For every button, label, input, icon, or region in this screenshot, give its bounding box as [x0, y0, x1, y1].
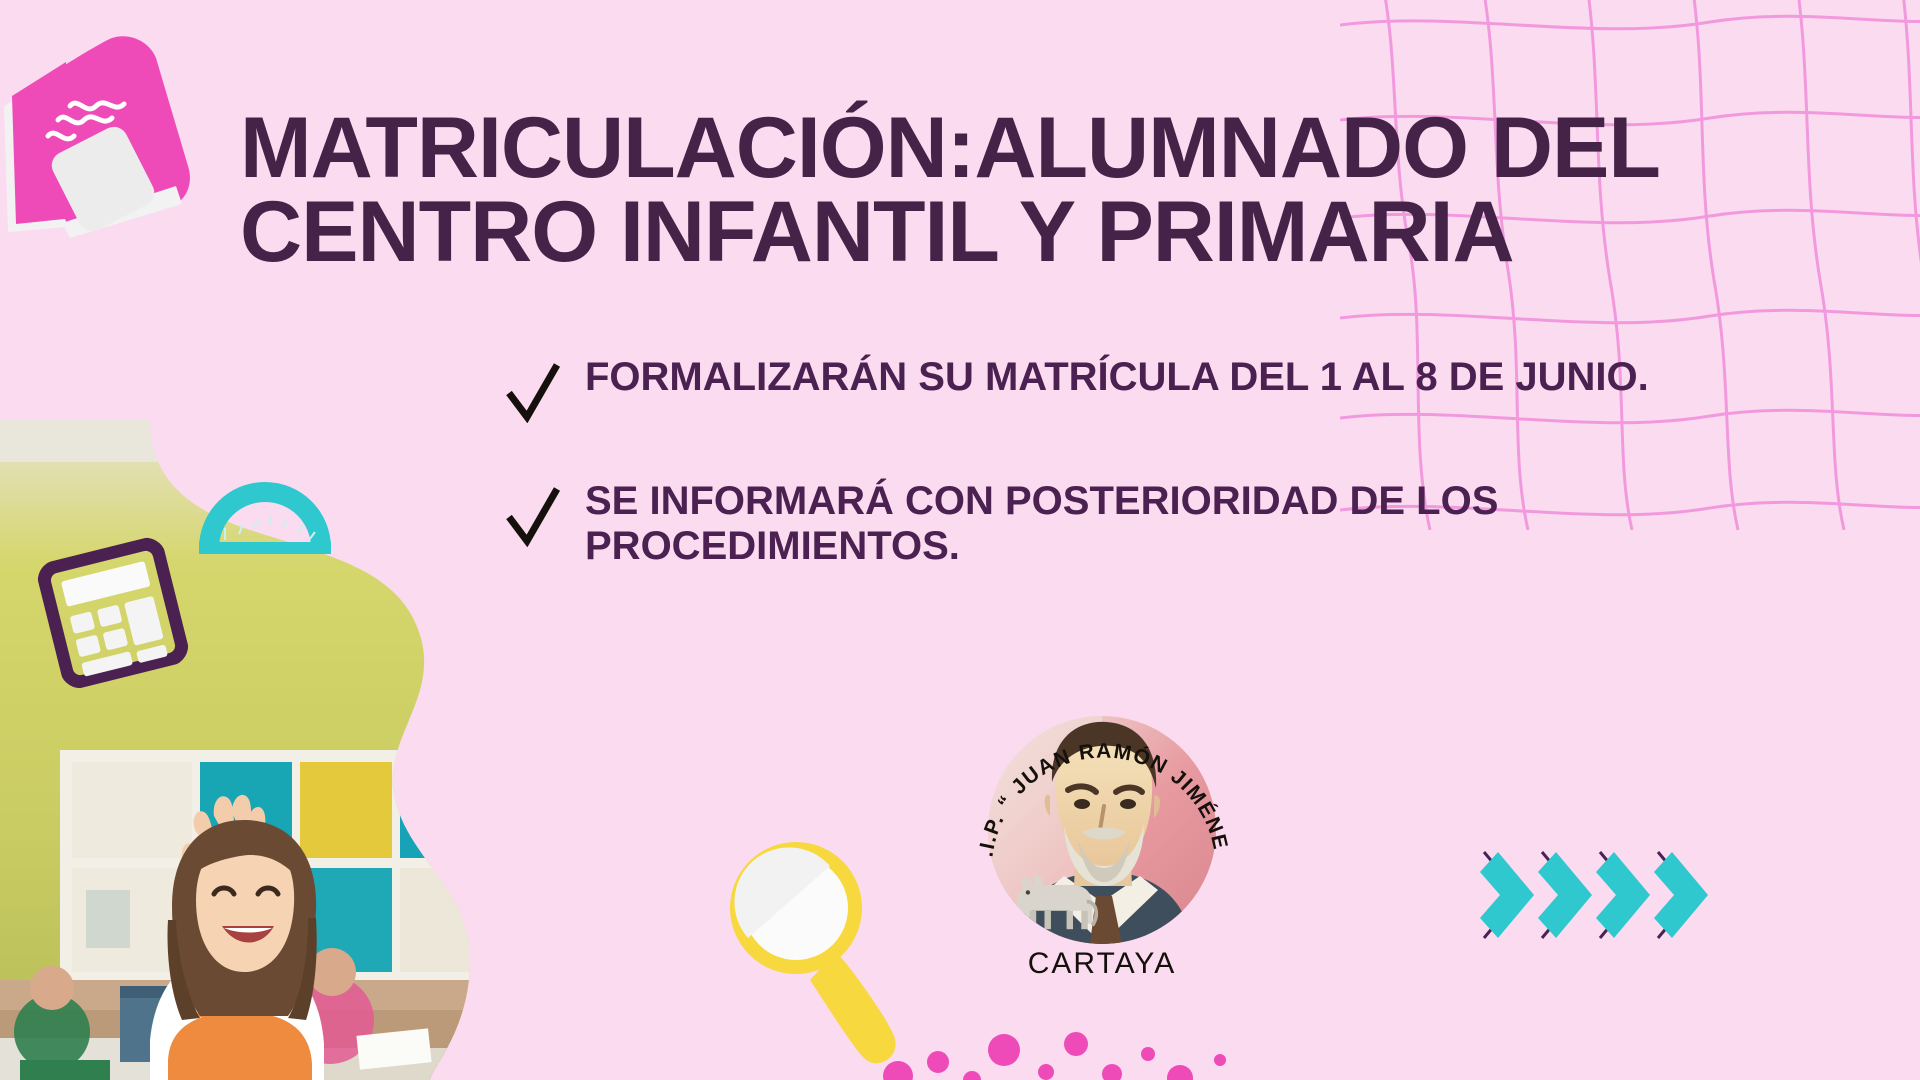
list-item: FORMALIZARÁN SU MATRÍCULA DEL 1 AL 8 DE …: [505, 355, 1735, 423]
book-icon: [0, 18, 215, 238]
title-line-2: CENTRO INFANTIL Y PRIMARIA: [240, 184, 1514, 280]
protractor-icon: [195, 462, 335, 554]
list-item: SE INFORMARÁ CON POSTERIORIDAD DE LOS PR…: [505, 479, 1735, 569]
logo-bottom-text: CARTAYA: [1028, 947, 1176, 980]
poster-canvas: MATRICULACIÓN:ALUMNADO DELCENTRO INFANTI…: [0, 0, 1920, 1080]
page-title: MATRICULACIÓN:ALUMNADO DELCENTRO INFANTI…: [240, 106, 1920, 275]
school-logo: C.E.I.P. “ JUAN RAMÓN JIMÉNEZ ” CARTAYA: [952, 690, 1252, 980]
chevron-arrows-icon: [1468, 838, 1718, 953]
bullet-list: FORMALIZARÁN SU MATRÍCULA DEL 1 AL 8 DE …: [505, 355, 1735, 625]
dots-cluster-icon: [880, 1020, 1240, 1080]
bullet-text: FORMALIZARÁN SU MATRÍCULA DEL 1 AL 8 DE …: [585, 355, 1649, 400]
bullet-text: SE INFORMARÁ CON POSTERIORIDAD DE LOS PR…: [585, 479, 1735, 569]
check-mark-icon: [505, 363, 561, 423]
title-line-1: MATRICULACIÓN:ALUMNADO DEL: [240, 100, 1660, 196]
